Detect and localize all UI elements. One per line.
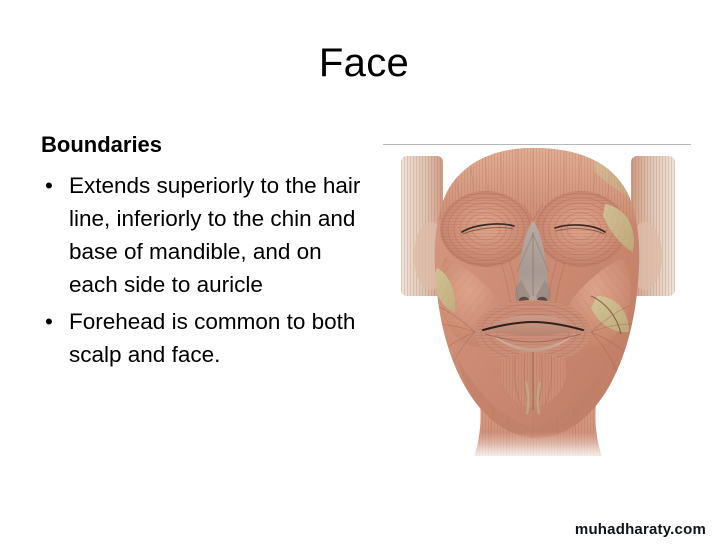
bullet-dot-icon: •	[45, 169, 53, 202]
list-item: • Forehead is common to both scalp and f…	[41, 305, 361, 371]
slide-canvas: Face Boundaries • Extends superiorly to …	[0, 0, 728, 546]
figure-top-rule	[383, 144, 691, 145]
watermark-text: muhadharaty.com	[575, 521, 706, 538]
section-heading-boundaries: Boundaries	[41, 130, 361, 160]
list-item-text: Extends superiorly to the hair line, inf…	[69, 173, 360, 297]
bullet-list: • Extends superiorly to the hair line, i…	[41, 169, 361, 371]
page-title: Face	[0, 38, 728, 88]
list-item-text: Forehead is common to both scalp and fac…	[69, 309, 355, 367]
list-item: • Extends superiorly to the hair line, i…	[41, 169, 361, 301]
anatomy-figure	[383, 140, 691, 464]
facial-muscles-illustration	[383, 146, 691, 464]
bullet-dot-icon: •	[45, 305, 53, 338]
content-column: Boundaries • Extends superiorly to the h…	[41, 130, 361, 375]
